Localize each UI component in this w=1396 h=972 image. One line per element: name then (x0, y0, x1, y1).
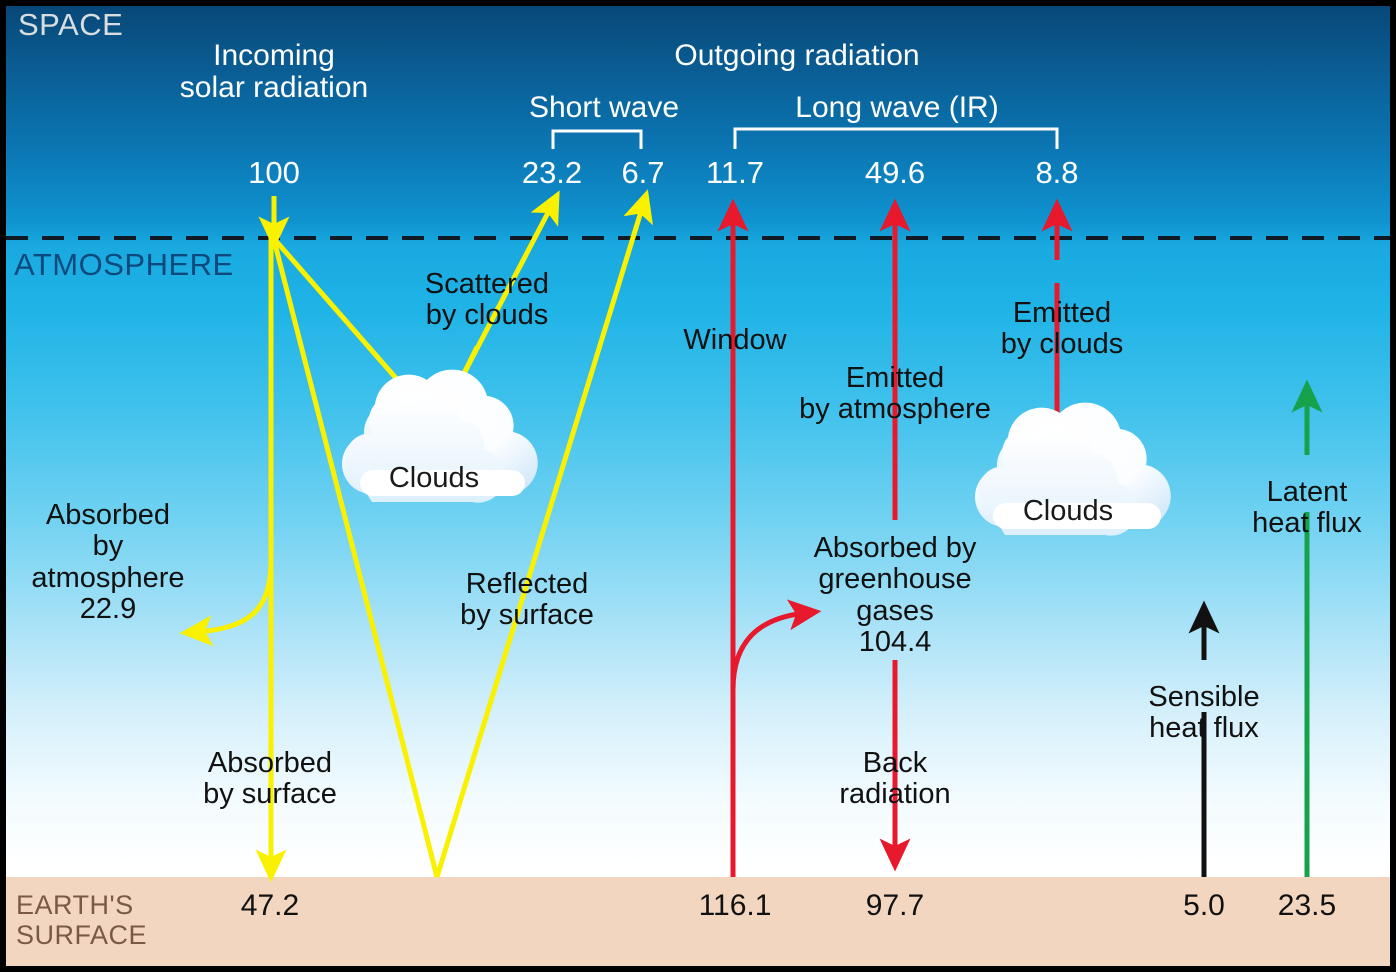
surface-value-sensible-heat-flux: 5.0 (1183, 890, 1225, 922)
surface-value-back-radiation: 97.7 (866, 890, 924, 922)
label-emitted-by-clouds: Emitted by clouds (1001, 298, 1124, 361)
absorbed-by-greenhouse-gases-arrow (733, 613, 805, 690)
flux-arrows-layer (0, 0, 1396, 972)
value-window: 11.7 (706, 156, 764, 189)
label-window: Window (683, 325, 786, 356)
label-latent-heat-flux: Latent heat flux (1252, 477, 1362, 540)
outgoing-radiation-heading: Outgoing radiation (674, 40, 919, 72)
label-reflected-by-surface: Reflected by surface (460, 569, 594, 632)
cloud-left-label: Clouds (389, 463, 479, 494)
label-absorbed-by-greenhouse-gases: Absorbed by greenhouse gases 104.4 (814, 533, 977, 658)
short-wave-bracket (553, 131, 641, 149)
surface-value-latent-heat-flux: 23.5 (1278, 890, 1336, 922)
space-label: SPACE (18, 8, 123, 41)
incoming-solar-heading: Incoming solar radiation (180, 40, 368, 105)
earth-surface-label: EARTH'S SURFACE (16, 890, 147, 950)
label-absorbed-by-atmosphere: Absorbed by atmosphere 22.9 (31, 500, 184, 625)
long-wave-heading: Long wave (IR) (795, 92, 998, 124)
value-reflected-by-surface: 6.7 (621, 156, 664, 189)
value-emitted-by-atmosphere: 49.6 (865, 156, 925, 189)
value-incoming-solar: 100 (248, 156, 300, 189)
label-sensible-heat-flux: Sensible heat flux (1148, 682, 1259, 745)
long-wave-bracket (735, 129, 1057, 149)
value-emitted-by-clouds: 8.8 (1035, 156, 1078, 189)
value-scattered-by-clouds: 23.2 (522, 156, 582, 189)
surface-value-absorbed-by-surface: 47.2 (241, 890, 299, 922)
label-back-radiation: Back radiation (839, 748, 950, 811)
atmosphere-label: ATMOSPHERE (14, 248, 234, 281)
label-emitted-by-atmosphere: Emitted by atmosphere (799, 363, 991, 426)
cloud-right-label: Clouds (1023, 496, 1113, 527)
label-absorbed-by-surface: Absorbed by surface (203, 748, 337, 811)
energy-budget-diagram: SPACE ATMOSPHERE EARTH'S SURFACE Incomin… (0, 0, 1396, 972)
absorbed-by-atmosphere-arrow (196, 560, 271, 632)
label-scattered-by-clouds: Scattered by clouds (425, 269, 549, 332)
short-wave-heading: Short wave (529, 92, 679, 124)
surface-value-window: 116.1 (699, 890, 772, 922)
